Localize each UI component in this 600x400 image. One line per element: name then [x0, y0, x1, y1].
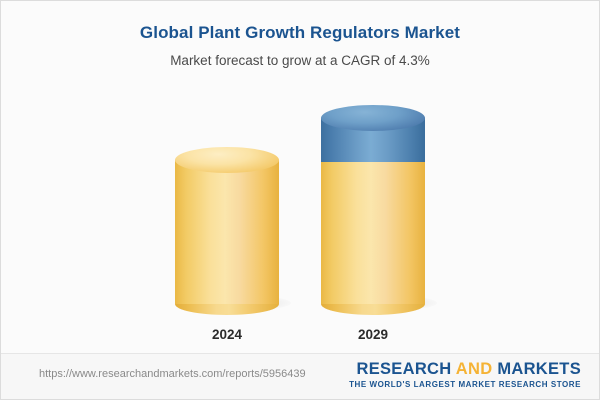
- cylinder-body-base-2029: [321, 160, 425, 304]
- research-and-markets-logo[interactable]: RESEARCH AND MARKETS THE WORLD'S LARGEST…: [349, 360, 581, 389]
- category-label-2029: 2029: [298, 327, 448, 342]
- cylinder-top-cap-2029: [321, 105, 425, 131]
- logo-wordmark: RESEARCH AND MARKETS: [349, 360, 581, 379]
- cylinder-2024: [175, 147, 279, 304]
- chart-subtitle: Market forecast to grow at a CAGR of 4.3…: [1, 53, 599, 68]
- cylinder-2029: [321, 105, 425, 304]
- cylinder-body-base-2024: [175, 160, 279, 304]
- logo-word-markets: MARKETS: [497, 360, 581, 378]
- chart-plot-area: USD 3.17 Billion 2024 USD 4.03 Billion 2…: [1, 81, 600, 346]
- market-forecast-infographic: Global Plant Growth Regulators Market Ma…: [0, 0, 600, 400]
- report-url[interactable]: https://www.researchandmarkets.com/repor…: [39, 368, 306, 380]
- logo-word-research: RESEARCH: [356, 360, 451, 378]
- cylinder-top-cap-2024: [175, 147, 279, 173]
- chart-title: Global Plant Growth Regulators Market: [1, 23, 599, 43]
- logo-tagline: THE WORLD'S LARGEST MARKET RESEARCH STOR…: [349, 380, 581, 389]
- category-label-2024: 2024: [152, 327, 302, 342]
- logo-word-and: AND: [456, 360, 493, 378]
- footer: https://www.researchandmarkets.com/repor…: [1, 354, 600, 399]
